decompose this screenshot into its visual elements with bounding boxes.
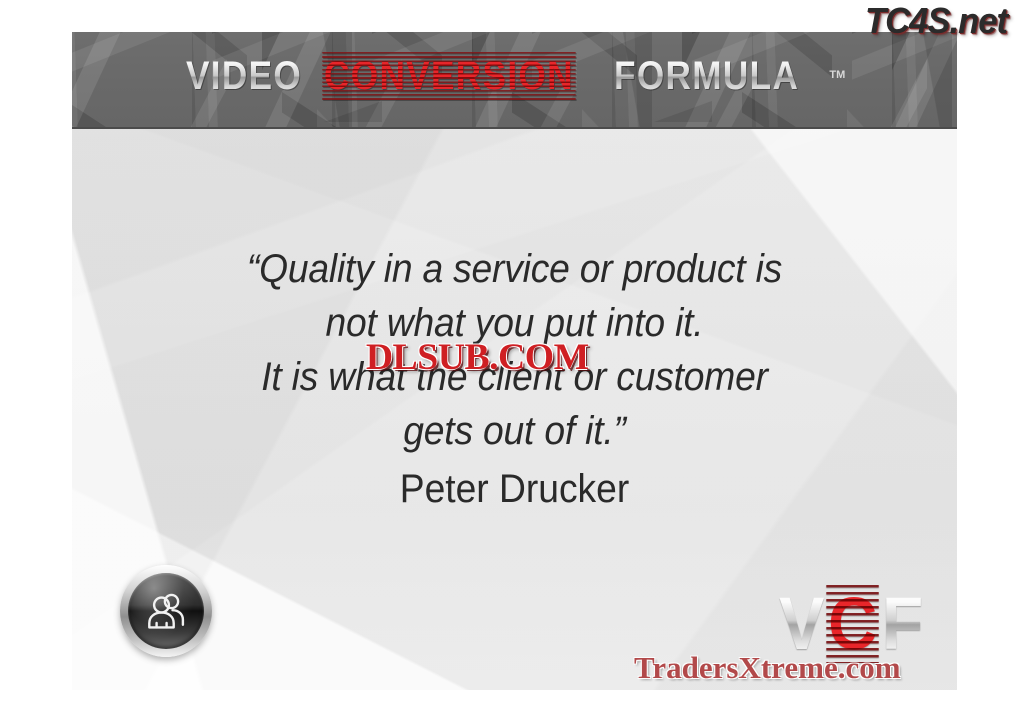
users-badge-inner	[128, 573, 204, 649]
slide-header-band: VIDEO CONVERSION FORMULA TM	[72, 32, 957, 129]
users-badge-button[interactable]	[120, 565, 212, 657]
users-group-icon	[143, 591, 189, 631]
logo-word-conversion: CONVERSION	[324, 54, 574, 99]
watermark-dlsub: DLSUB.COM	[366, 336, 589, 379]
video-conversion-formula-logo: VIDEO CONVERSION FORMULA TM	[186, 54, 845, 99]
watermark-tradersxtreme: TradersXtreme.com	[634, 650, 901, 686]
quote-attribution: Peter Drucker	[103, 462, 926, 516]
logo-word-video: VIDEO	[186, 54, 302, 99]
quote-line-4: gets out of it.”	[103, 404, 926, 458]
trademark-symbol: TM	[829, 69, 845, 81]
quote-block: “Quality in a service or product is not …	[72, 242, 957, 516]
page-canvas: VIDEO CONVERSION FORMULA TM “Quality in …	[0, 0, 1024, 724]
logo-word-formula: FORMULA	[614, 54, 799, 99]
watermark-tc4s: TC4S.net	[865, 0, 1007, 42]
quote-line-1: “Quality in a service or product is	[103, 242, 926, 296]
